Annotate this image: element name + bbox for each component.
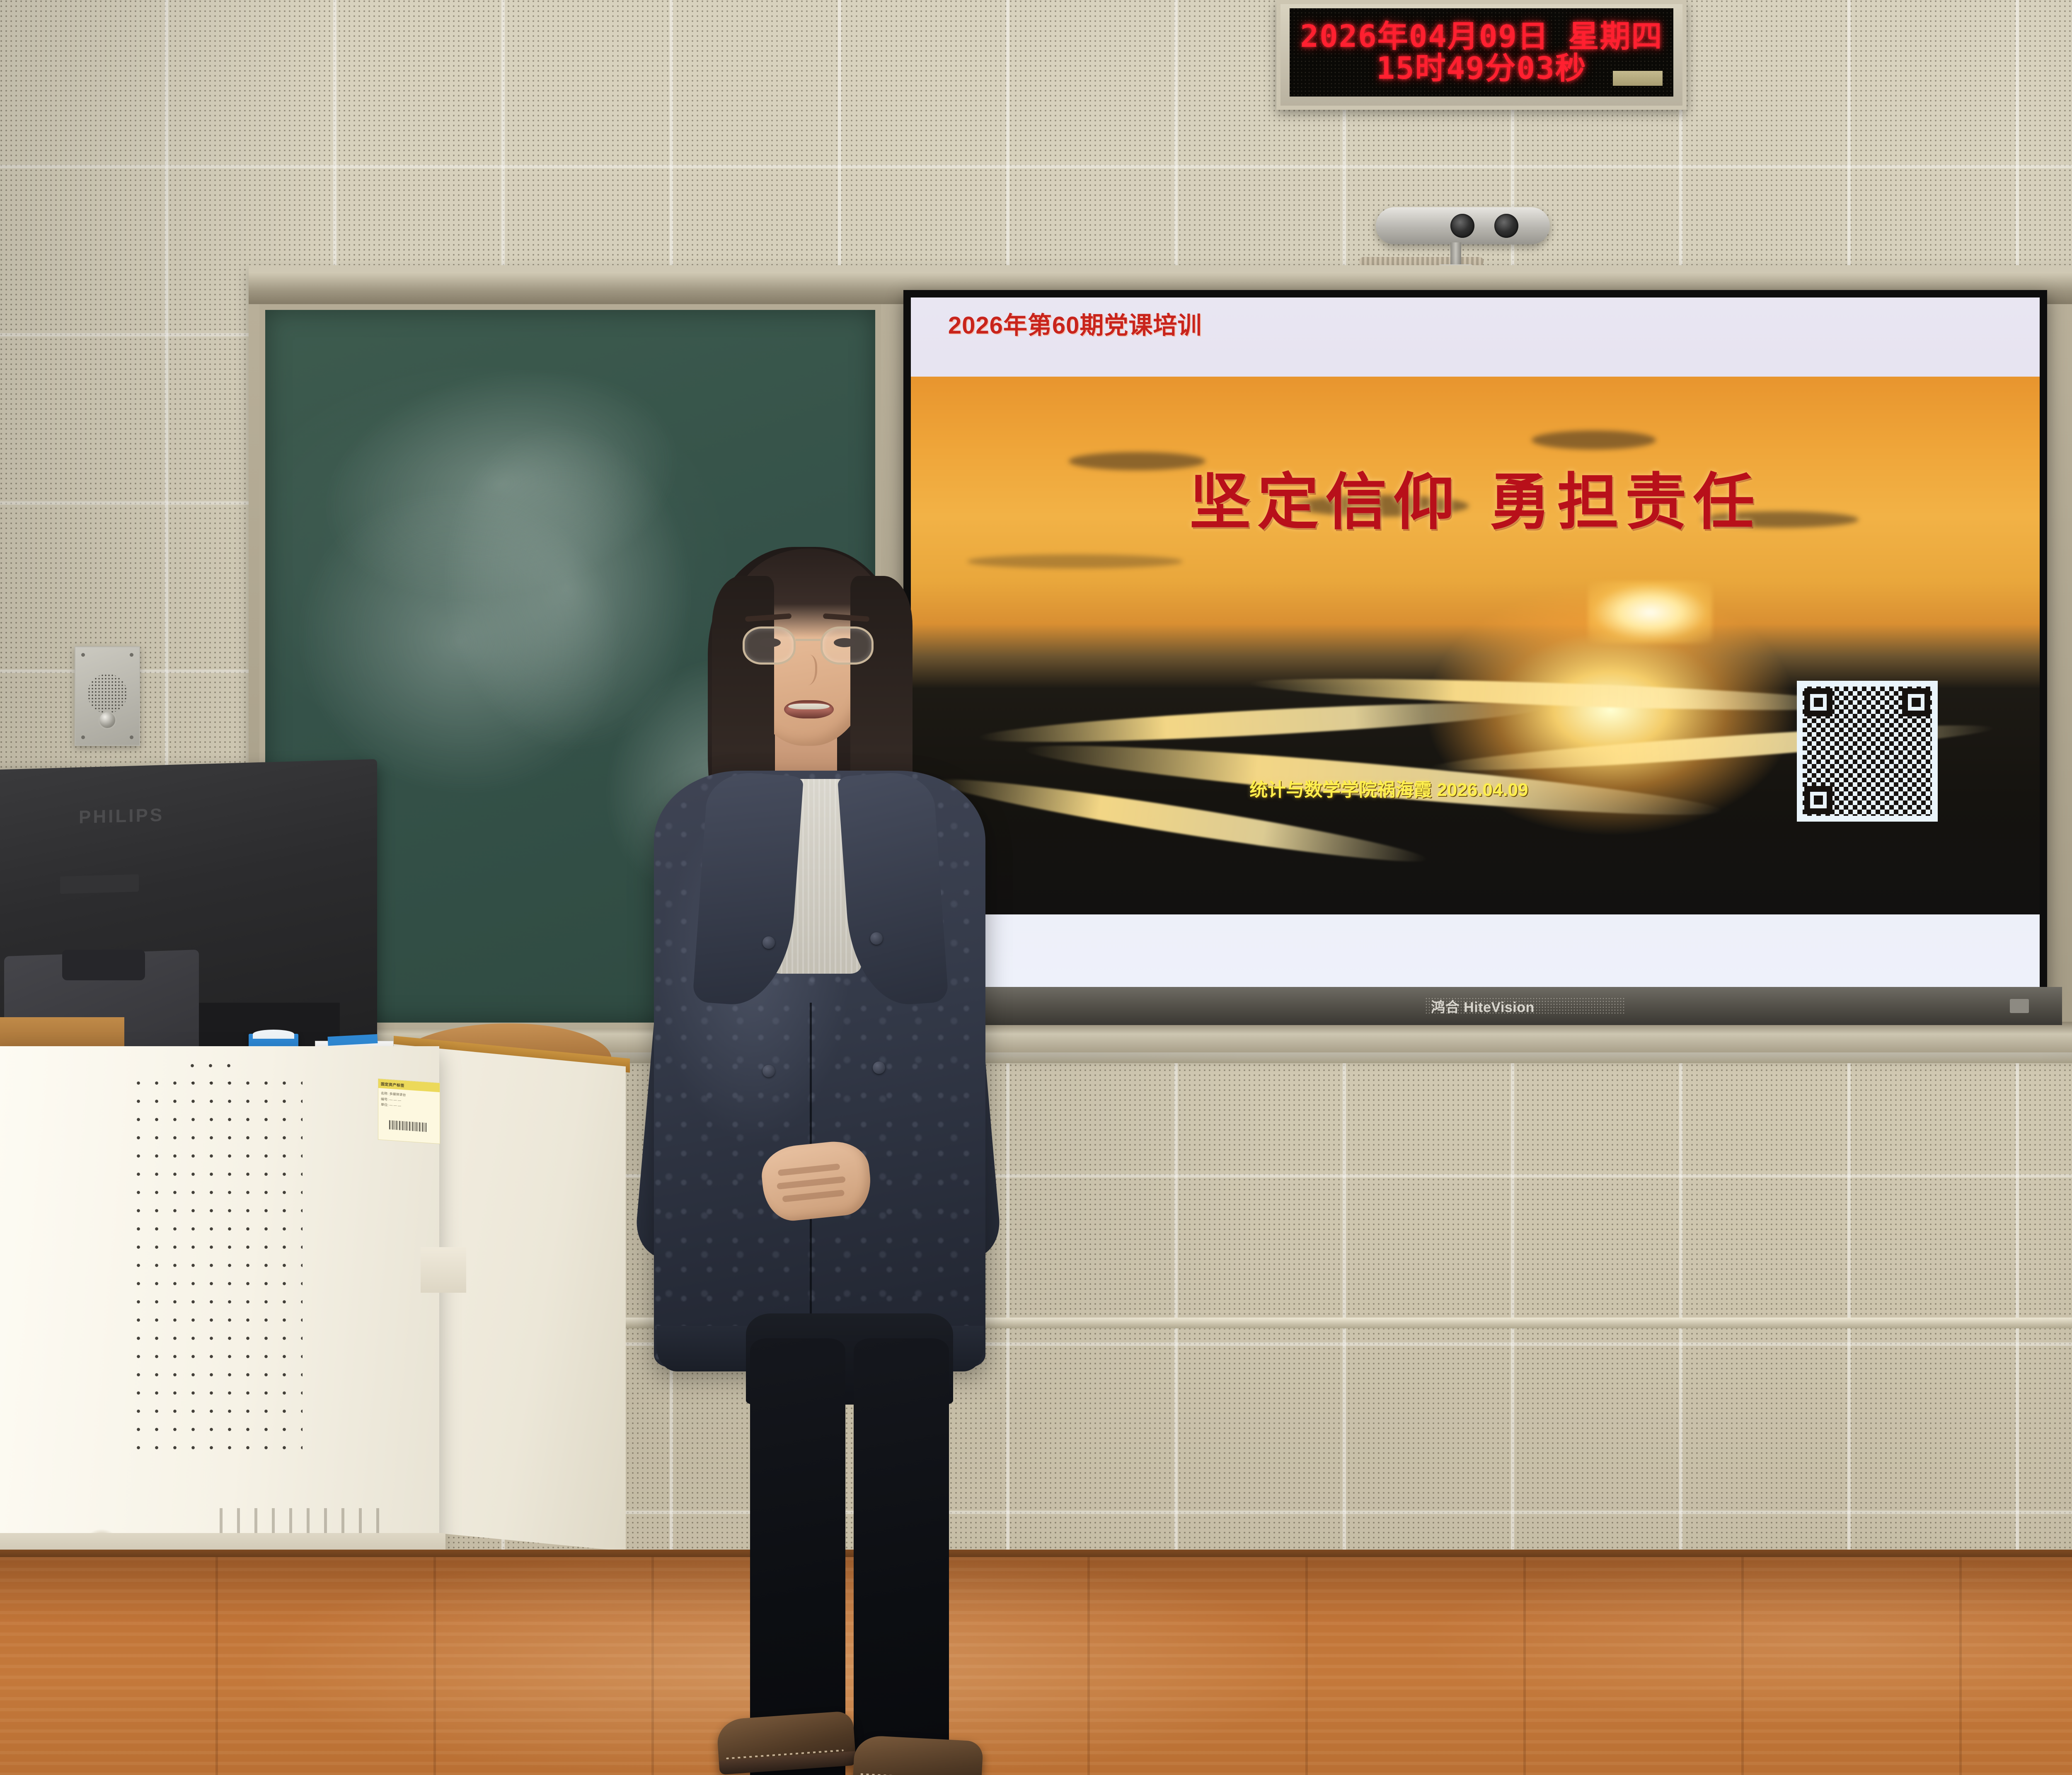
qr-code-pattern xyxy=(1803,687,1932,816)
presentation-screen[interactable]: 2026年第60期党课培训 坚定信仰 勇担责任 统计与数学学院祸海霞 2026.… xyxy=(911,297,2040,987)
podium-notch xyxy=(421,1247,466,1293)
screw-icon xyxy=(130,735,133,739)
monitor-hinge xyxy=(62,950,145,980)
usb-port-icon[interactable] xyxy=(2010,999,2029,1013)
screw-icon xyxy=(130,653,133,657)
interactive-flat-panel[interactable]: 2026年第60期党课培训 坚定信仰 勇担责任 统计与数学学院祸海霞 2026.… xyxy=(903,290,2047,994)
led-clock-date-line: 2026年04月09日 星期四 xyxy=(1300,21,1663,53)
coat-button xyxy=(873,1062,885,1074)
camera-lens-left-icon xyxy=(1450,214,1474,238)
led-clock-screen: 2026年04月09日 星期四 15时49分03秒 xyxy=(1290,8,1673,97)
camera-lens-right-icon xyxy=(1494,214,1518,238)
presenter-mouth xyxy=(784,700,834,718)
coat-button xyxy=(762,1065,775,1077)
display-brand-logo: 鸿合 HiteVision xyxy=(1431,996,1535,1016)
ceiling-camera xyxy=(1376,207,1550,244)
asset-label-barcode-icon xyxy=(389,1120,427,1132)
presenter-trouser-left xyxy=(750,1338,845,1775)
intercom-speaker-grille-icon xyxy=(85,671,130,716)
led-clock: 2026年04月09日 星期四 15时49分03秒 xyxy=(1276,0,1687,110)
finger xyxy=(777,1176,846,1190)
glasses-lens-left xyxy=(743,626,796,665)
led-clock-corner-label xyxy=(1613,71,1663,86)
presenter-shoe-left xyxy=(716,1711,856,1774)
presenter xyxy=(638,514,1053,1775)
presenter-nose xyxy=(798,655,817,685)
cloud xyxy=(1532,430,1656,450)
presenter-teeth xyxy=(788,704,830,709)
slide-background-photo: 坚定信仰 勇担责任 统计与数学学院祸海霞 2026.04.09 xyxy=(911,377,2040,914)
finger xyxy=(778,1163,840,1176)
camera-stem xyxy=(1450,242,1461,267)
screw-icon xyxy=(81,735,85,739)
finger xyxy=(782,1190,845,1202)
led-clock-time-line: 15时49分03秒 xyxy=(1376,53,1586,85)
wall-intercom-plate[interactable] xyxy=(75,646,140,746)
glasses-bridge xyxy=(796,639,821,641)
display-bottom-bezel: 鸿合 HiteVision xyxy=(903,987,2062,1025)
podium-vent-dots xyxy=(137,1081,303,1454)
qr-code-icon[interactable] xyxy=(1797,681,1938,822)
screw-icon xyxy=(81,653,85,657)
glasses-lens-right xyxy=(821,626,874,665)
qr-finder-top-right xyxy=(1902,688,1930,716)
shoe-stitching xyxy=(861,1773,971,1775)
river-bend xyxy=(978,695,1543,750)
monitor-vesa-plate xyxy=(60,874,139,894)
sun-glow xyxy=(1588,581,1712,643)
classroom-scene: 2026年04月09日 星期四 15时49分03秒 left chalkboar… xyxy=(0,0,2072,1775)
coat-button xyxy=(870,932,883,945)
presenter-trouser-right xyxy=(854,1338,949,1775)
presenter-shoe-right xyxy=(852,1735,983,1775)
intercom-call-button[interactable] xyxy=(98,711,116,729)
qr-finder-top-left xyxy=(1804,688,1832,716)
slide-main-title: 坚定信仰 勇担责任 xyxy=(911,452,2040,541)
podium-vent-dots-top xyxy=(191,1064,244,1083)
coat-button xyxy=(762,936,775,949)
slide-byline: 统计与数学学院祸海霞 2026.04.09 xyxy=(1249,775,1528,801)
qr-finder-bottom-left xyxy=(1804,786,1832,814)
podium-asset-label: 固定资产标签 名称: 多媒体讲台 编号: — — — 单位: — — — xyxy=(378,1079,440,1144)
monitor-brand-label: PHILIPS xyxy=(79,805,164,828)
chalkboard-left-label: left chalkboard panel xyxy=(265,310,266,310)
slide-header-title: 2026年第60期党课培训 xyxy=(948,306,1202,341)
